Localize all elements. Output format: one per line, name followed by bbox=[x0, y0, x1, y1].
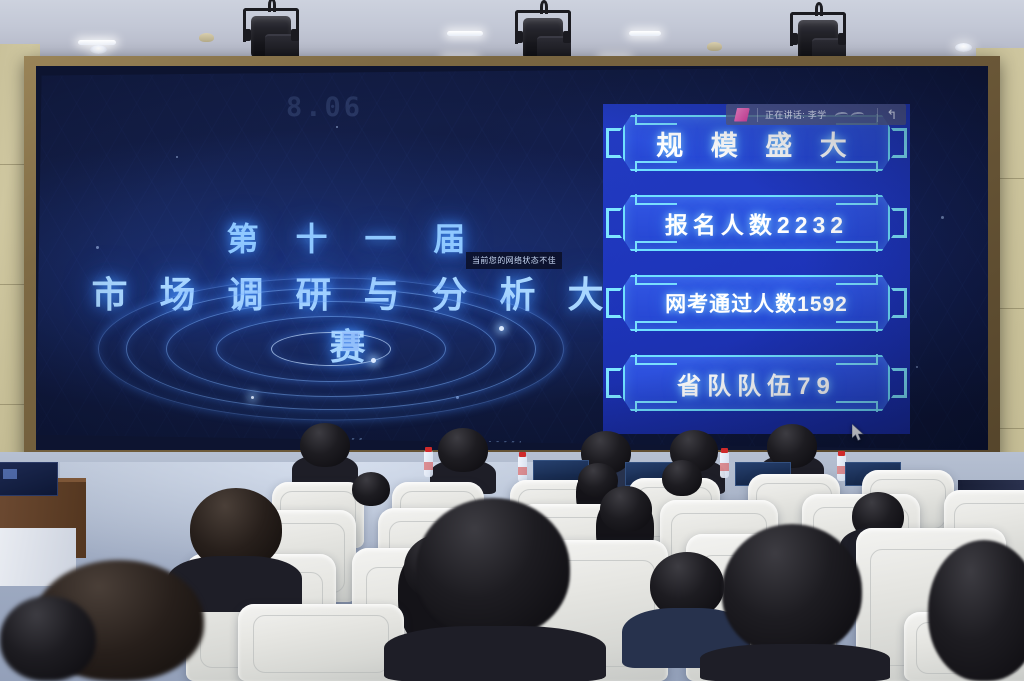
person-head bbox=[300, 423, 350, 467]
person-head bbox=[416, 498, 570, 638]
person-head bbox=[0, 596, 96, 681]
person-head bbox=[722, 524, 862, 656]
person-head bbox=[662, 460, 702, 496]
person-head bbox=[438, 428, 488, 472]
podium-monitor bbox=[0, 462, 58, 496]
strip-light bbox=[447, 31, 483, 36]
screenshot-root: 8.06 第 十 一 届 市 场 调 研 与 分 析 大 赛 当前您的网络状态不… bbox=[0, 0, 1024, 681]
person-head bbox=[600, 486, 652, 532]
auditorium-seat bbox=[238, 604, 404, 681]
downlight bbox=[90, 45, 107, 54]
led-screen-frame: 8.06 第 十 一 届 市 场 调 研 与 分 析 大 赛 当前您的网络状态不… bbox=[24, 56, 1000, 460]
person-head bbox=[928, 540, 1024, 681]
person-torso bbox=[384, 626, 606, 681]
stage-spotlight bbox=[240, 4, 302, 62]
water-bottle bbox=[720, 452, 729, 478]
smoke-detector-icon bbox=[707, 42, 722, 51]
smoke-detector-icon bbox=[199, 33, 214, 42]
water-bottle bbox=[424, 451, 433, 477]
person-torso bbox=[700, 644, 890, 681]
person-head bbox=[352, 472, 390, 506]
presentation-slide[interactable]: 8.06 第 十 一 届 市 场 调 研 与 分 析 大 赛 当前您的网络状态不… bbox=[36, 66, 988, 450]
downlight bbox=[955, 43, 972, 52]
water-bottle bbox=[518, 456, 527, 482]
strip-light bbox=[629, 31, 661, 36]
led-screen[interactable]: 8.06 第 十 一 届 市 场 调 研 与 分 析 大 赛 当前您的网络状态不… bbox=[36, 66, 988, 450]
